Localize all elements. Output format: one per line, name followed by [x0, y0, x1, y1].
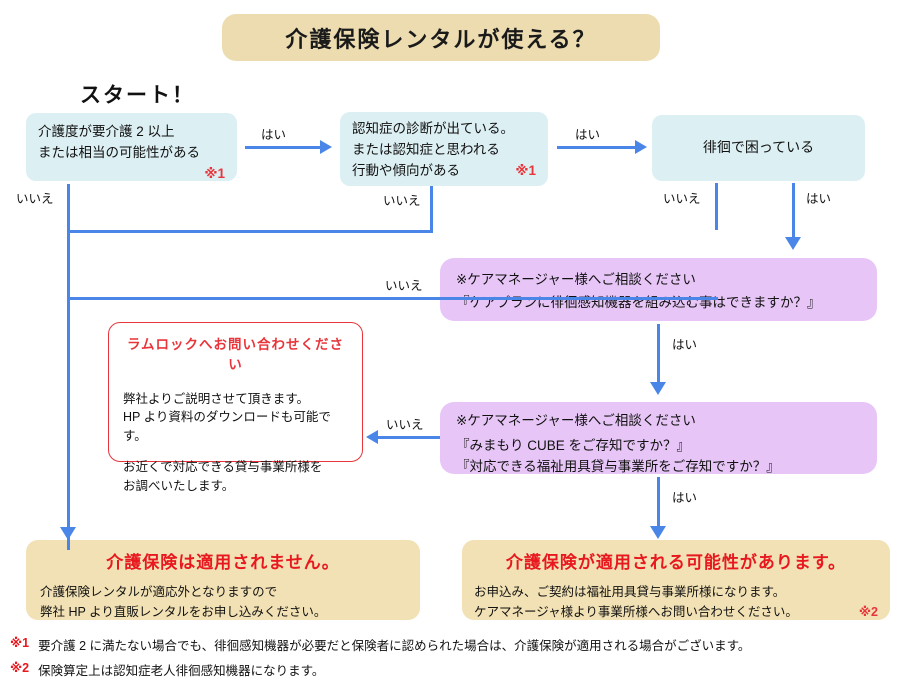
edge-q2-yes-line — [557, 146, 637, 149]
node-q2-line2: または認知症と思われる — [352, 140, 536, 161]
result-yes-footnote-mark: ※2 — [859, 602, 878, 622]
edge-q3-no-horizontal — [67, 297, 718, 300]
result-yes-line1: お申込み、ご契約は福祉用具貸与事業所様になります。 — [474, 582, 878, 602]
node-cm2-line2: 『みまもり CUBE をご存知ですか？』 — [456, 436, 861, 456]
node-cm1-line2: 『ケアプランに徘徊感知機器を組み込む事はできますか？』 — [456, 292, 861, 315]
node-contact-ramrock[interactable]: ラムロックへお問い合わせください 弊社よりご説明させて頂きます。 HP より資料… — [108, 322, 363, 462]
node-q2-dementia[interactable]: 認知症の診断が出ている。 または認知症と思われる 行動や傾向がある ※1 — [340, 112, 548, 186]
edge-q1-no-arrowhead — [60, 527, 76, 540]
node-result-applicable[interactable]: 介護保険が適用される可能性があります。 お申込み、ご契約は福祉用具貸与事業所様に… — [462, 540, 890, 620]
edge-q3-yes-arrowhead — [785, 237, 801, 250]
edge-q3-yes-vertical — [792, 183, 795, 241]
edge-label-q1-yes: はい — [261, 124, 286, 143]
edge-cm1-yes-arrowhead — [650, 382, 666, 395]
node-cm2-line1: ※ケアマネージャー様へご相談ください — [456, 411, 861, 431]
footnote-2-key: ※2 — [10, 660, 29, 675]
edge-q1-yes-arrowhead — [320, 140, 332, 154]
chart-title-text: 介護保険レンタルが使える？ — [285, 22, 596, 54]
edge-q3-no-vertical — [715, 183, 718, 230]
node-care-manager-careplan[interactable]: ※ケアマネージャー様へご相談ください 『ケアプランに徘徊感知機器を組み込む事はで… — [440, 258, 877, 321]
contact-line4: お調べいたします。 — [123, 477, 348, 496]
flowchart-canvas: 介護保険レンタルが使える？ スタート！ 介護度が要介護 2 以上 または相当の可… — [0, 0, 916, 696]
node-q2-line1: 認知症の診断が出ている。 — [352, 119, 536, 140]
node-q1-line1: 介護度が要介護 2 以上 — [38, 122, 225, 143]
edge-q2-yes-arrowhead — [635, 140, 647, 154]
footnotes: ※1 要介護 2 に満たない場合でも、徘徊感知機器が必要だと保険者に認められた場… — [0, 632, 916, 682]
footnote-row: ※1 要介護 2 に満たない場合でも、徘徊感知機器が必要だと保険者に認められた場… — [0, 632, 916, 657]
node-cm1-line1: ※ケアマネージャー様へご相談ください — [456, 269, 861, 292]
footnote-1-text: 要介護 2 に満たない場合でも、徘徊感知機器が必要だと保険者に認められた場合は、… — [38, 635, 750, 654]
footnote-row: ※2 保険算定上は認知症老人徘徊感知機器になります。 — [0, 657, 916, 682]
edge-label-q3-no-secondary: いいえ — [385, 275, 423, 294]
node-q1-footnote-mark: ※1 — [38, 164, 225, 185]
contact-line2: HP より資料のダウンロードも可能です。 — [123, 408, 348, 446]
edge-label-q2-no: いいえ — [383, 190, 421, 209]
node-q3-wandering[interactable]: 徘徊で困っている — [652, 115, 865, 181]
edge-q1-yes-line — [245, 146, 322, 149]
node-result-not-applicable[interactable]: 介護保険は適用されません。 介護保険レンタルが適応外となりますので 弊社 HP … — [26, 540, 420, 620]
contact-line3: お近くで対応できる貸与事業所様を — [123, 458, 348, 477]
edge-q2-no-horizontal — [67, 230, 433, 233]
contact-line1: 弊社よりご説明させて頂きます。 — [123, 390, 348, 409]
node-care-manager-cube[interactable]: ※ケアマネージャー様へご相談ください 『みまもり CUBE をご存知ですか？』 … — [440, 402, 877, 474]
edge-label-q1-no: いいえ — [16, 188, 54, 207]
footnote-2-text: 保険算定上は認知症老人徘徊感知機器になります。 — [38, 660, 324, 679]
start-label: スタート！ — [80, 79, 195, 109]
node-q3-text: 徘徊で困っている — [703, 137, 814, 159]
node-q2-line3: 行動や傾向がある — [352, 161, 460, 182]
chart-title: 介護保険レンタルが使える？ — [222, 14, 660, 61]
node-q1-line2: または相当の可能性がある — [38, 143, 225, 164]
result-no-line2: 弊社 HP より直販レンタルをお申し込みください。 — [40, 602, 406, 622]
result-yes-line2: ケアマネージャ様より事業所様へお問い合わせください。 — [474, 602, 798, 622]
edge-label-q3-no: いいえ — [663, 188, 701, 207]
result-yes-heading: 介護保険が適用される可能性があります。 — [474, 549, 878, 576]
result-no-line1: 介護保険レンタルが適応外となりますので — [40, 582, 406, 602]
edge-cm1-yes-vertical — [657, 324, 660, 386]
edge-cm2-no-arrowhead — [366, 430, 378, 444]
contact-heading: ラムロックへお問い合わせください — [123, 335, 348, 376]
edge-label-cm1-yes: はい — [672, 334, 697, 353]
edge-cm2-no-line — [378, 436, 440, 439]
edge-label-q2-yes: はい — [575, 124, 600, 143]
result-no-heading: 介護保険は適用されません。 — [40, 549, 406, 576]
edge-q1-no-vertical — [67, 184, 70, 550]
edge-label-q3-yes: はい — [806, 188, 831, 207]
edge-label-cm2-yes: はい — [672, 487, 697, 506]
node-cm2-line3: 『対応できる福祉用具貸与事業所をご存知ですか？』 — [456, 457, 861, 477]
edge-cm2-yes-vertical — [657, 477, 660, 531]
edge-cm2-yes-arrowhead — [650, 526, 666, 539]
node-q1-care-level[interactable]: 介護度が要介護 2 以上 または相当の可能性がある ※1 — [26, 113, 237, 181]
node-q2-footnote-mark: ※1 — [515, 161, 536, 182]
edge-label-cm2-no: いいえ — [386, 414, 424, 433]
edge-q2-no-vertical — [430, 186, 433, 233]
footnote-1-key: ※1 — [10, 635, 29, 650]
